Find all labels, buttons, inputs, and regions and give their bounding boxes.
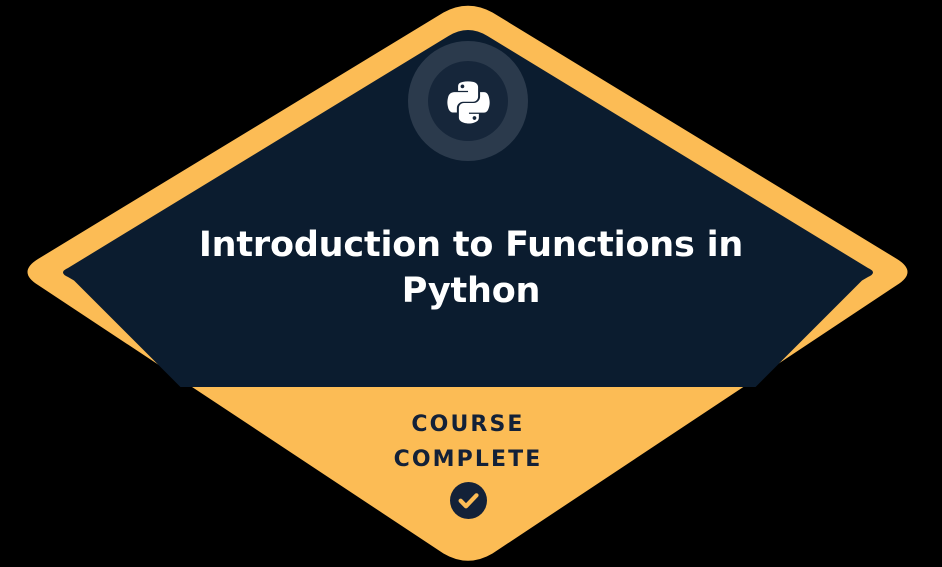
check-circle-bg (450, 482, 487, 519)
python-logo-icon (445, 78, 491, 124)
check-circle-icon (450, 482, 487, 519)
status-block: COURSE COMPLETE (268, 407, 668, 477)
course-title: Introduction to Functions in Python (171, 222, 771, 314)
status-line-complete: COMPLETE (268, 442, 668, 477)
certificate-badge: Introduction to Functions in Python COUR… (0, 0, 942, 567)
status-line-course: COURSE (268, 407, 668, 442)
